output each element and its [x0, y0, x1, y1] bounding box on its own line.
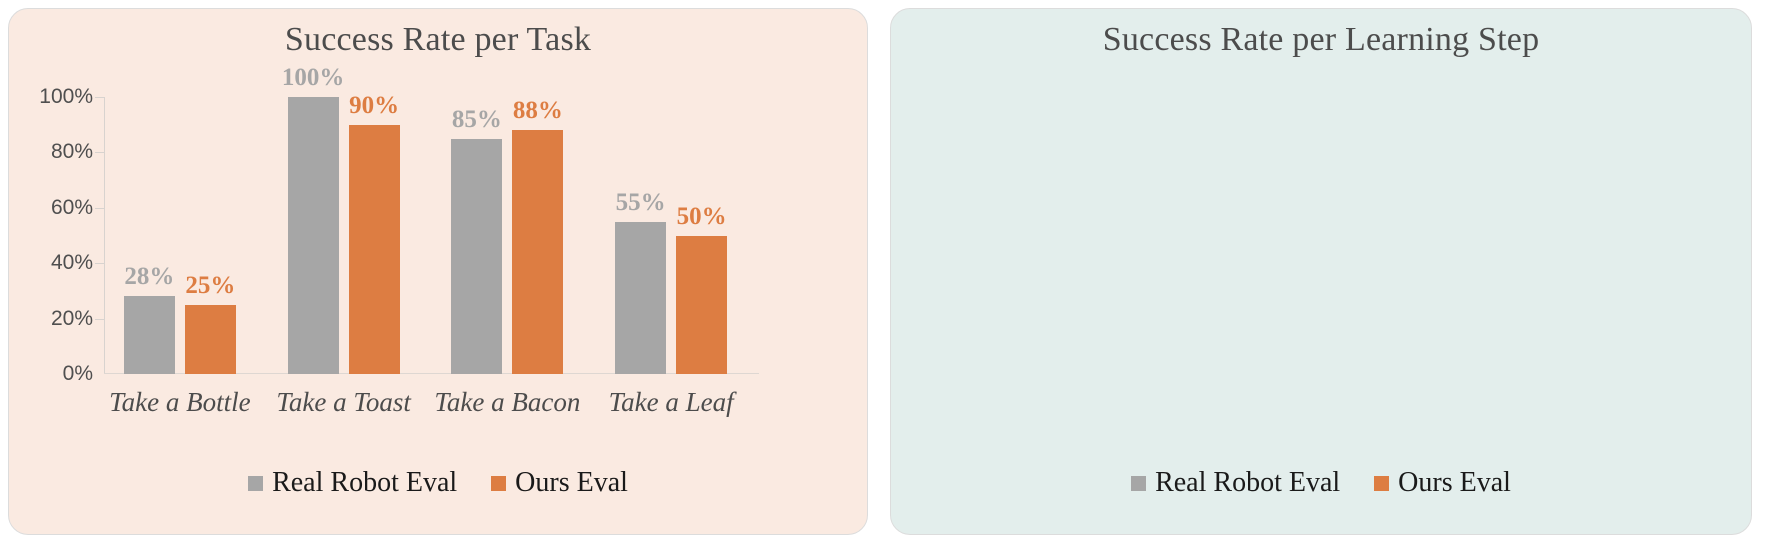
- bar-ours[interactable]: [349, 125, 400, 374]
- legend-swatch-ours-icon: [491, 476, 506, 491]
- x-axis-tick-label: Take a Toast: [276, 387, 411, 418]
- bar-value-label: 100%: [282, 64, 345, 92]
- bar-real[interactable]: [615, 222, 666, 374]
- bar-value-label: 88%: [513, 97, 563, 125]
- y-axis-tick: [95, 208, 104, 209]
- y-axis-tick-label: 40%: [51, 251, 93, 275]
- legend-learning-step: Real Robot Eval Ours Eval: [891, 467, 1751, 499]
- bar-value-label: 28%: [124, 263, 174, 291]
- y-axis-tick: [95, 263, 104, 264]
- legend-item-real[interactable]: Real Robot Eval: [1131, 467, 1340, 499]
- x-axis-tick-label: Take a Bottle: [109, 387, 251, 418]
- bar-value-label: 90%: [349, 92, 399, 120]
- legend-label-ours: Ours Eval: [515, 467, 628, 499]
- y-axis-tick-label: 0%: [63, 362, 93, 386]
- y-axis-tick: [95, 97, 104, 98]
- legend-item-ours[interactable]: Ours Eval: [491, 467, 628, 499]
- y-axis-labels-task: 100%80%60%40%20%0%: [19, 97, 93, 374]
- y-axis-tick: [95, 152, 104, 153]
- legend-swatch-real-icon: [1131, 476, 1146, 491]
- x-axis-tick-label: Take a Leaf: [609, 387, 734, 418]
- bar-ours[interactable]: [676, 236, 727, 375]
- figure-root: Success Rate per Task 100%80%60%40%20%0%…: [0, 0, 1774, 550]
- x-axis-categories-task: Take a BottleTake a ToastTake a BaconTak…: [104, 387, 759, 427]
- bar-value-label: 55%: [616, 189, 666, 217]
- y-axis-tick: [95, 319, 104, 320]
- legend-label-real: Real Robot Eval: [272, 467, 457, 499]
- y-axis-tick-label: 80%: [51, 140, 93, 164]
- bar-real[interactable]: [451, 139, 502, 374]
- legend-label-ours: Ours Eval: [1398, 467, 1511, 499]
- bar-value-label: 85%: [452, 106, 502, 134]
- legend-task: Real Robot Eval Ours Eval: [9, 467, 867, 499]
- legend-item-ours[interactable]: Ours Eval: [1374, 467, 1511, 499]
- bar-real[interactable]: [288, 97, 339, 374]
- chart-title-learning-step: Success Rate per Learning Step: [891, 21, 1751, 59]
- y-axis-tick-label: 20%: [51, 307, 93, 331]
- plot-area-task: 28%25%100%90%85%88%55%50%: [104, 97, 759, 374]
- bar-ours[interactable]: [185, 305, 236, 374]
- legend-swatch-ours-icon: [1374, 476, 1389, 491]
- legend-item-real[interactable]: Real Robot Eval: [248, 467, 457, 499]
- y-axis-line: [104, 97, 105, 374]
- chart-panel-learning-step: Success Rate per Learning Step 100%80%60…: [890, 8, 1752, 535]
- bar-ours[interactable]: [512, 130, 563, 374]
- legend-label-real: Real Robot Eval: [1155, 467, 1340, 499]
- legend-swatch-real-icon: [248, 476, 263, 491]
- chart-panel-task: Success Rate per Task 100%80%60%40%20%0%…: [8, 8, 868, 535]
- chart-title-task: Success Rate per Task: [9, 21, 867, 59]
- bar-value-label: 50%: [677, 203, 727, 231]
- y-axis-tick-label: 100%: [39, 85, 93, 109]
- y-axis-tick-label: 60%: [51, 196, 93, 220]
- bar-value-label: 25%: [185, 272, 235, 300]
- x-axis-tick-label: Take a Bacon: [434, 387, 580, 418]
- bar-real[interactable]: [124, 296, 175, 374]
